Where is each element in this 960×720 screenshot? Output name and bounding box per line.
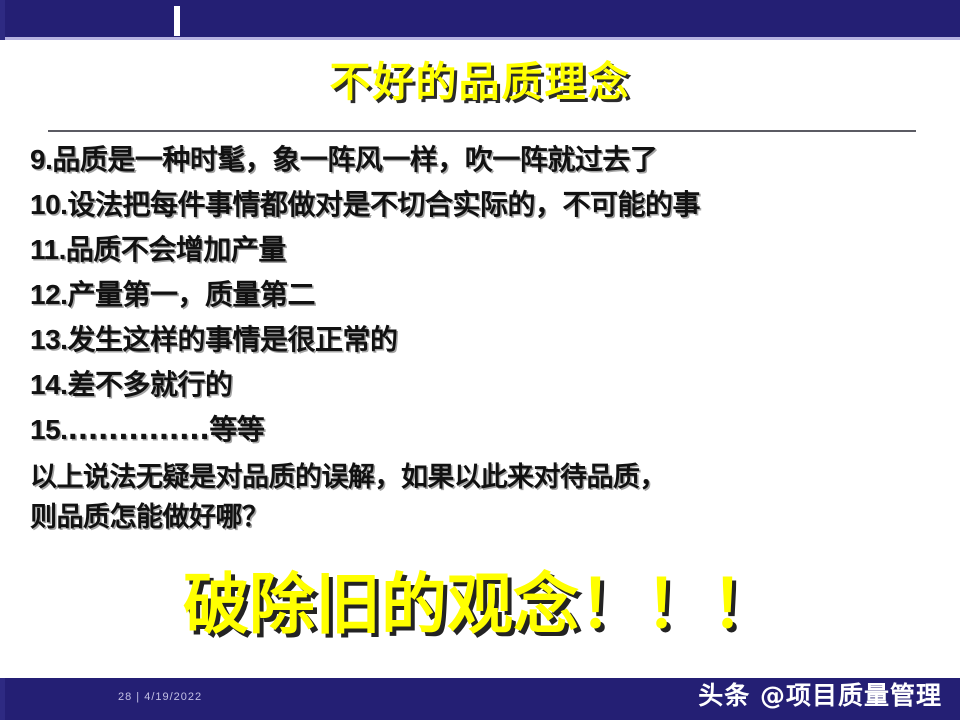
closing-paragraph: 以上说法无疑是对品质的误解，如果以此来对待品质， 则品质怎能做好哪？ — [30, 458, 860, 538]
list-item: 14.差不多就行的 — [30, 362, 930, 407]
list-item-number: 12. — [30, 279, 67, 310]
list-item-label: 发生这样的事情是很正常的 — [67, 323, 397, 356]
list-item-number: 13. — [30, 324, 67, 355]
list-item: 13.发生这样的事情是很正常的 — [30, 317, 930, 362]
footer-left-accent — [0, 678, 5, 720]
slide-header-band — [0, 0, 960, 40]
watermark-label: 头条 @项目质量管理 — [698, 681, 942, 711]
list-item: 15...............等等 — [30, 407, 930, 452]
list-item-number: 10. — [30, 189, 67, 220]
text-cursor-icon — [174, 6, 180, 36]
list-item-label: 设法把每件事情都做对是不切合实际的，不可能的事 — [67, 188, 700, 221]
list-item-label: 品质是一种时髦，象一阵风一样，吹一阵就过去了 — [52, 143, 657, 176]
list-item: 11.品质不会增加产量 — [30, 227, 930, 272]
list-item-label: 品质不会增加产量 — [66, 233, 286, 266]
closing-paragraph-line: 以上说法无疑是对品质的误解，如果以此来对待品质， — [30, 458, 860, 498]
list-item-label: ..............等等 — [67, 413, 264, 446]
slide-canvas: 不好的品质理念 9.品质是一种时髦，象一阵风一样，吹一阵就过去了 10.设法把每… — [0, 0, 960, 720]
bad-quality-concepts-list: 9.品质是一种时髦，象一阵风一样，吹一阵就过去了 10.设法把每件事情都做对是不… — [30, 137, 930, 452]
list-item-number: 11. — [30, 234, 66, 265]
list-item: 10.设法把每件事情都做对是不切合实际的，不可能的事 — [30, 182, 930, 227]
closing-paragraph-line: 则品质怎能做好哪？ — [30, 498, 860, 538]
header-left-accent — [0, 0, 5, 40]
title-divider — [48, 130, 916, 132]
callout-text: 破除旧的观念！！！ — [0, 570, 960, 639]
list-item-number: 14. — [30, 369, 67, 400]
list-item: 12.产量第一，质量第二 — [30, 272, 930, 317]
footer-page-and-date: 28 | 4/19/2022 — [118, 691, 202, 703]
list-item-label: 差不多就行的 — [67, 368, 232, 401]
list-item-number: 9. — [30, 144, 52, 175]
list-item: 9.品质是一种时髦，象一阵风一样，吹一阵就过去了 — [30, 137, 930, 182]
list-item-label: 产量第一，质量第二 — [67, 278, 315, 311]
list-item-number: 15. — [30, 414, 67, 445]
page-title: 不好的品质理念 — [0, 62, 960, 103]
